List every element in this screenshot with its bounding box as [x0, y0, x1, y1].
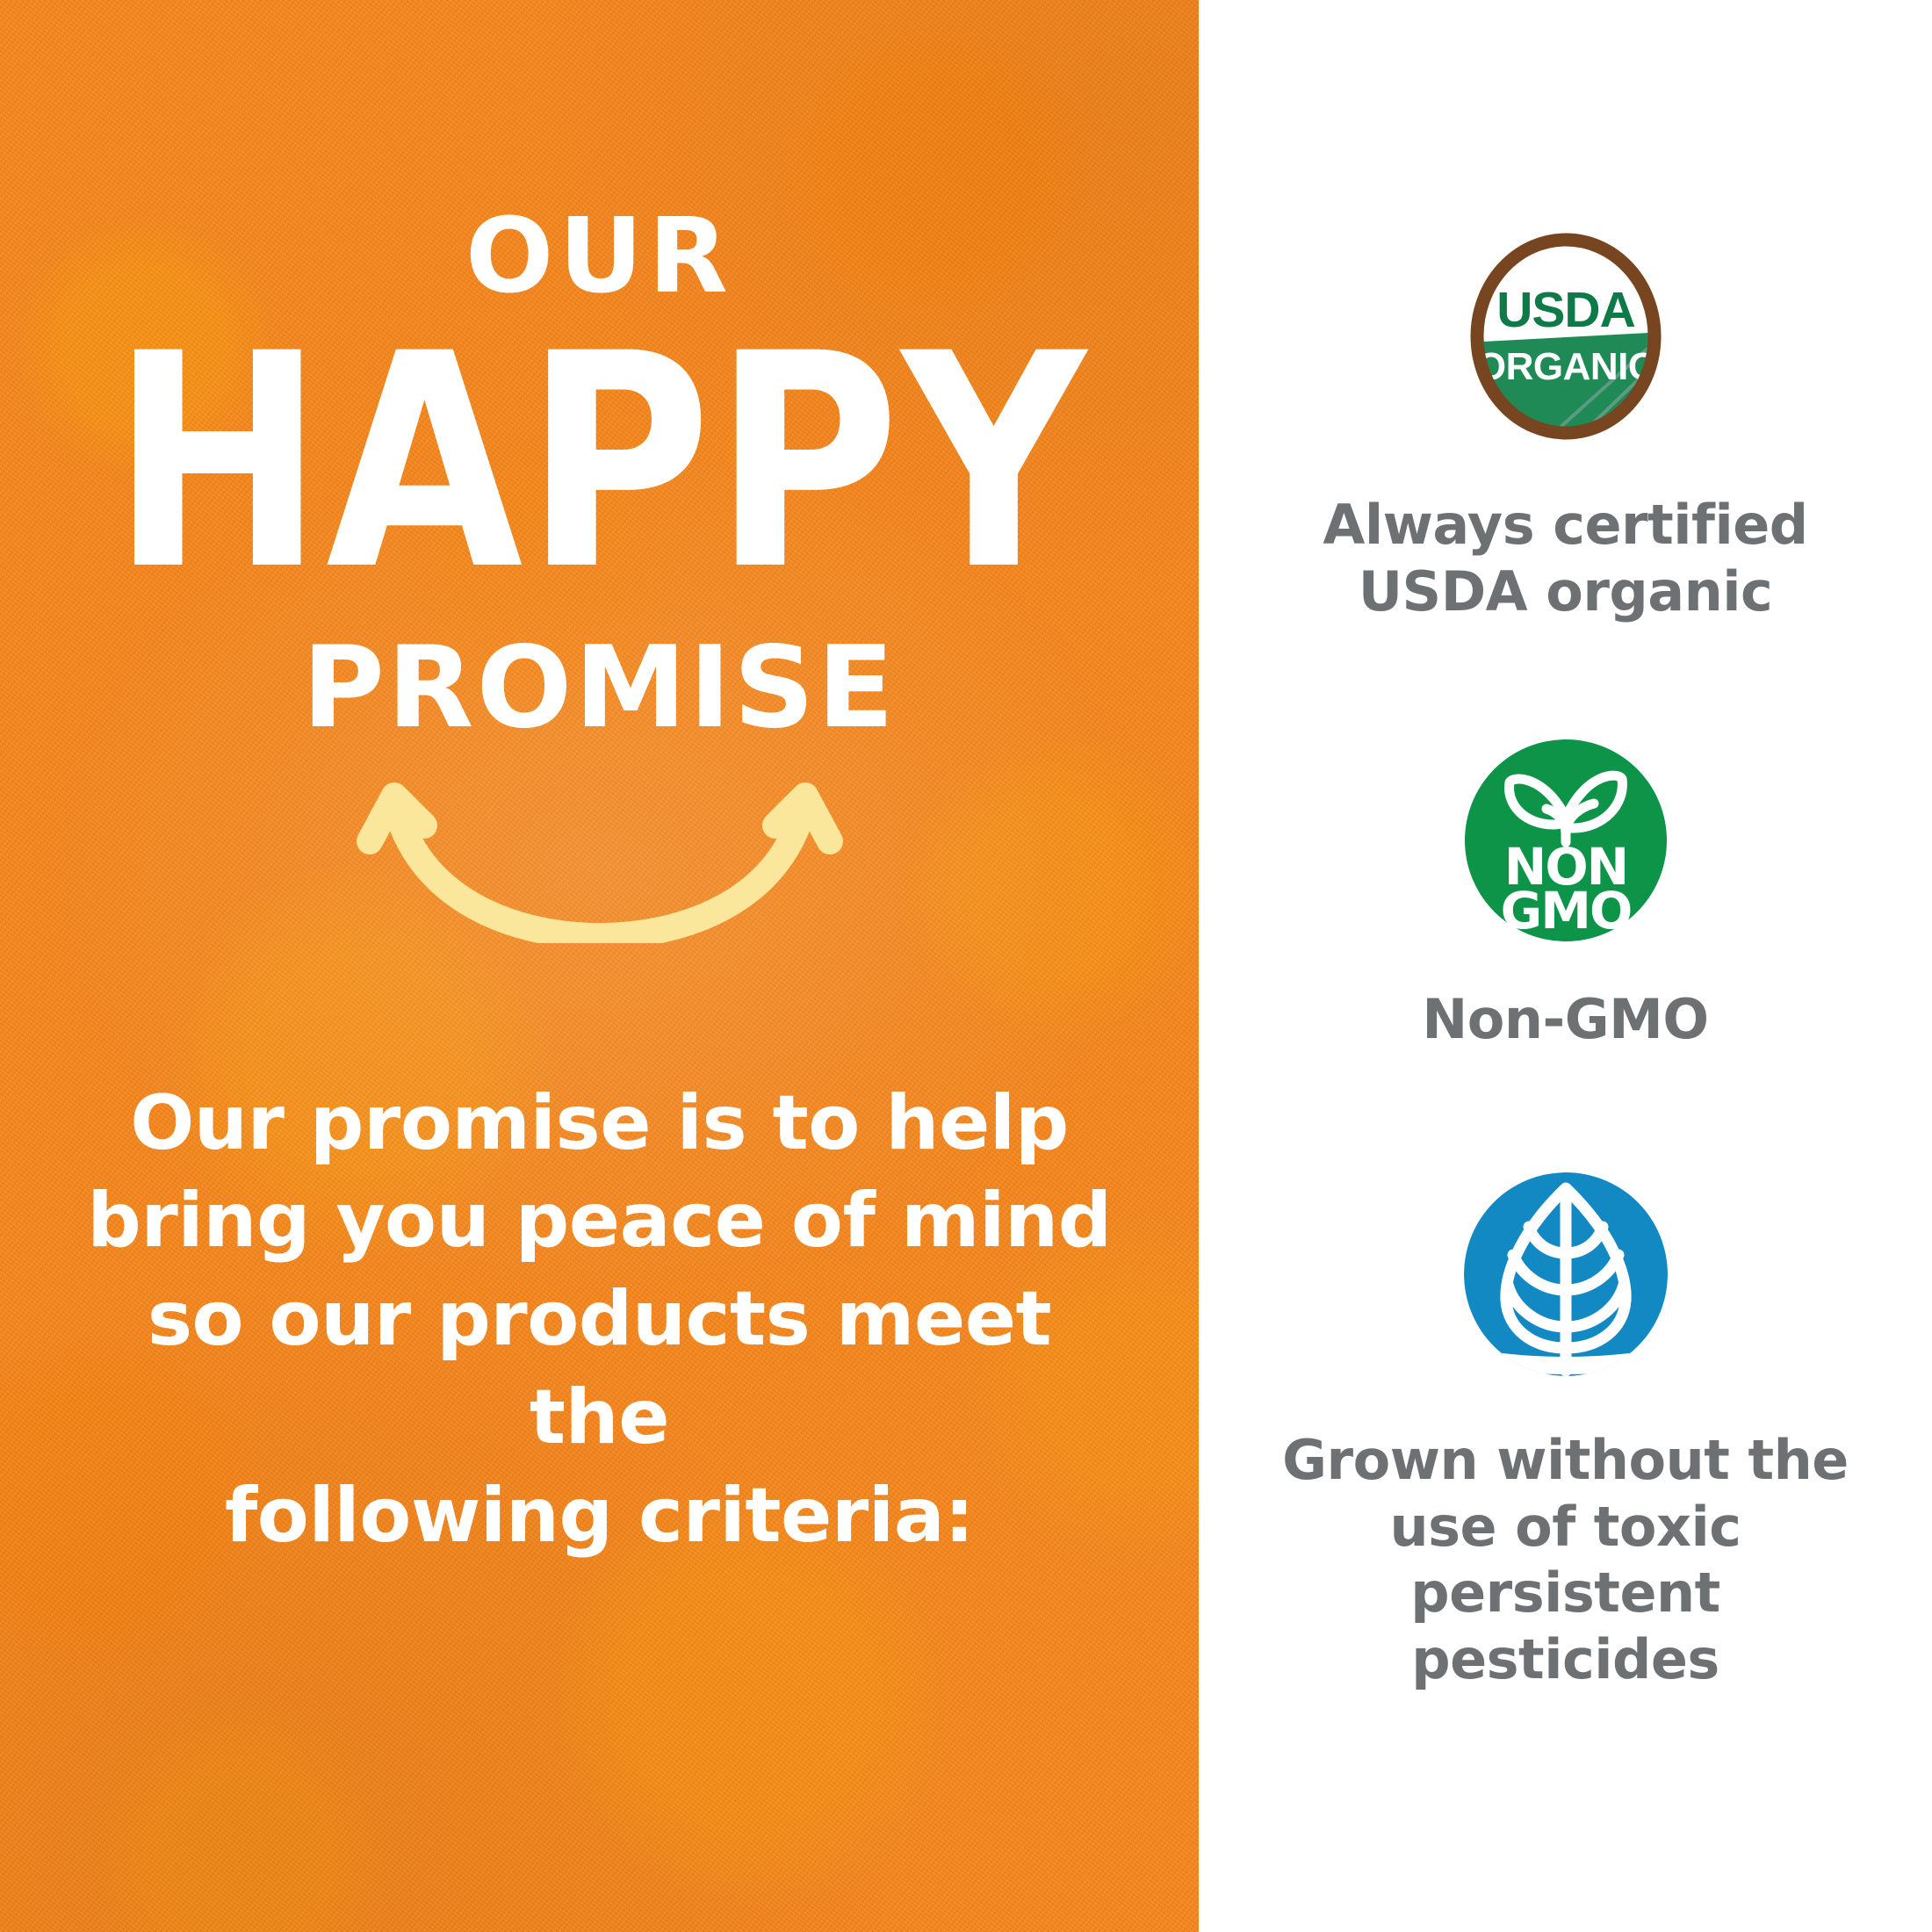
claim-non-gmo-caption: Non-GMO: [1422, 986, 1708, 1053]
claim-no-toxic-pesticides: Grown without the use of toxic persisten…: [1199, 1169, 1932, 1693]
usda-organic-seal-icon: USDA ORGANIC: [1457, 220, 1675, 453]
caption-line-1: Grown without the: [1232, 1427, 1900, 1494]
promise-body-text: Our promise is to help bring you peace o…: [77, 1075, 1122, 1566]
smile-arc-icon: [354, 768, 846, 943]
right-claims-panel: USDA ORGANIC Always certified USDA organ…: [1199, 0, 1932, 1932]
caption-line-1: Always certified: [1323, 492, 1807, 559]
caption-line-2: USDA organic: [1323, 559, 1807, 625]
non-gmo-sprout-icon: NON GMO: [1462, 737, 1669, 944]
caption-line-3: pesticides: [1232, 1626, 1900, 1693]
promise-body-line-4: following criteria:: [77, 1467, 1122, 1566]
promise-body-line-2: bring you peace of mind: [77, 1172, 1122, 1271]
left-orange-panel: OUR HAPPY PROMISE Our promise is to help…: [0, 0, 1199, 1932]
non-gmo-badge-bottom-word: GMO: [1500, 881, 1631, 941]
promise-body-line-1: Our promise is to help: [77, 1075, 1122, 1173]
claim-usda-organic: USDA ORGANIC Always certified USDA organ…: [1199, 220, 1932, 624]
caption-line-2: use of toxic persistent: [1232, 1494, 1900, 1626]
claim-no-toxic-pesticides-caption: Grown without the use of toxic persisten…: [1232, 1427, 1900, 1693]
promise-body-line-3: so our products meet the: [77, 1271, 1122, 1467]
claim-usda-organic-caption: Always certified USDA organic: [1323, 492, 1807, 624]
headline-line-happy: HAPPY: [0, 323, 1199, 604]
caption-line-1: Non-GMO: [1422, 986, 1708, 1053]
usda-seal-bottom-word: ORGANIC: [1475, 345, 1654, 388]
headline-line-promise: PROMISE: [0, 632, 1199, 745]
claim-non-gmo: NON GMO Non-GMO: [1199, 737, 1932, 1053]
blue-leaf-icon: [1460, 1169, 1671, 1380]
headline-block: OUR HAPPY PROMISE: [0, 0, 1199, 745]
usda-seal-top-word: USDA: [1496, 282, 1635, 338]
happy-promise-poster: OUR HAPPY PROMISE Our promise is to help…: [0, 0, 1932, 1932]
